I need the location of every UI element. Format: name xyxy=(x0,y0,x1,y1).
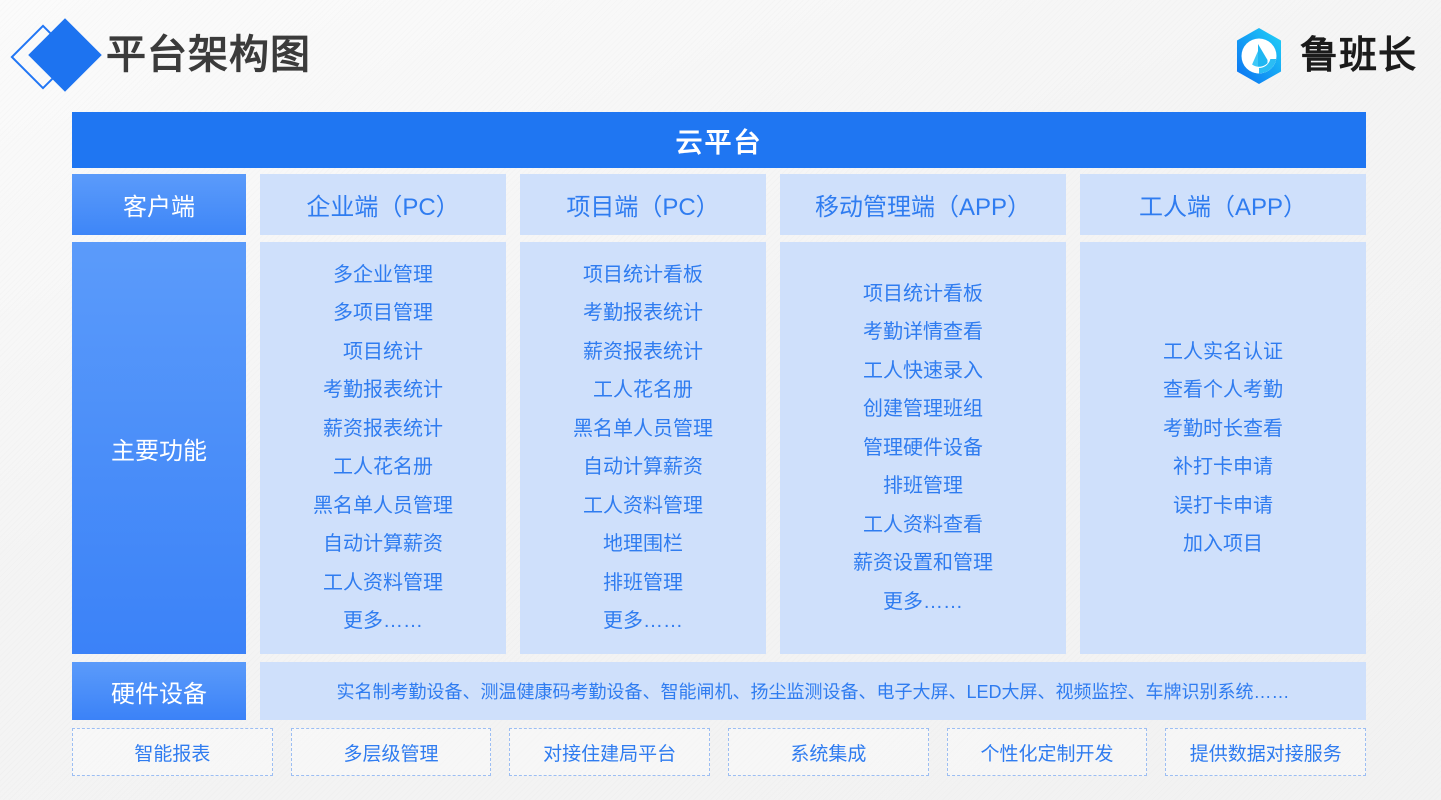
tag-government-platform-integration[interactable]: 对接住建局平台 xyxy=(509,728,710,776)
column-header-project-pc-text: 项目端（PC） xyxy=(566,187,719,222)
list-item[interactable]: 考勤详情查看 xyxy=(863,313,983,352)
feature-list-enterprise-pc: 多企业管理 多项目管理 项目统计 考勤报表统计 薪资报表统计 工人花名册 黑名单… xyxy=(260,242,506,654)
list-item[interactable]: 多企业管理 xyxy=(333,256,433,295)
column-header-project-pc[interactable]: 项目端（PC） xyxy=(520,174,766,235)
tag-system-integration-text: 系统集成 xyxy=(790,739,866,766)
list-item[interactable]: 项目统计看板 xyxy=(583,256,703,295)
tag-system-integration[interactable]: 系统集成 xyxy=(728,728,929,776)
diamond-logo-icon xyxy=(18,24,104,90)
tag-multi-level-management-text: 多层级管理 xyxy=(344,739,439,766)
list-item[interactable]: 薪资设置和管理 xyxy=(853,544,993,583)
platform-architecture-diagram: 云平台 客户端 企业端（PC） 项目端（PC） 移动管理端（APP） 工人端（A… xyxy=(72,112,1366,776)
list-item[interactable]: 工人花名册 xyxy=(333,448,433,487)
list-item[interactable]: 工人实名认证 xyxy=(1163,333,1283,372)
tag-custom-development-text: 个性化定制开发 xyxy=(981,739,1114,766)
list-item[interactable]: 项目统计 xyxy=(343,333,423,372)
capability-tag-row: 智能报表 多层级管理 对接住建局平台 系统集成 个性化定制开发 提供数据对接服务 xyxy=(72,728,1366,776)
hexagon-building-icon xyxy=(1229,26,1289,86)
list-item[interactable]: 查看个人考勤 xyxy=(1163,371,1283,410)
row-label-hardware: 硬件设备 xyxy=(72,662,246,720)
feature-list-project-pc: 项目统计看板 考勤报表统计 薪资报表统计 工人花名册 黑名单人员管理 自动计算薪… xyxy=(520,242,766,654)
list-item-more[interactable]: 更多…… xyxy=(883,583,963,622)
list-item[interactable]: 项目统计看板 xyxy=(863,275,983,314)
tag-data-integration-service[interactable]: 提供数据对接服务 xyxy=(1165,728,1366,776)
list-item[interactable]: 补打卡申请 xyxy=(1173,448,1273,487)
main-functions-row: 主要功能 多企业管理 多项目管理 项目统计 考勤报表统计 薪资报表统计 工人花名… xyxy=(72,242,1366,654)
page-header: 平台架构图 鲁班长 xyxy=(0,0,1441,110)
column-header-worker-app[interactable]: 工人端（APP） xyxy=(1080,174,1366,235)
hardware-device-list: 实名制考勤设备、测温健康码考勤设备、智能闸机、扬尘监测设备、电子大屏、LED大屏… xyxy=(260,662,1366,720)
feature-list-worker-app: 工人实名认证 查看个人考勤 考勤时长查看 补打卡申请 误打卡申请 加入项目 xyxy=(1080,242,1366,654)
row-label-main-functions-text: 主要功能 xyxy=(111,431,207,466)
row-label-main-functions: 主要功能 xyxy=(72,242,246,654)
row-label-hardware-text: 硬件设备 xyxy=(111,674,207,709)
list-item[interactable]: 加入项目 xyxy=(1183,525,1263,564)
list-item[interactable]: 黑名单人员管理 xyxy=(313,487,453,526)
list-item[interactable]: 地理围栏 xyxy=(603,525,683,564)
list-item[interactable]: 薪资报表统计 xyxy=(323,410,443,449)
client-header-row: 客户端 企业端（PC） 项目端（PC） 移动管理端（APP） 工人端（APP） xyxy=(72,174,1366,235)
list-item[interactable]: 工人资料查看 xyxy=(863,506,983,545)
list-item[interactable]: 薪资报表统计 xyxy=(583,333,703,372)
cloud-platform-bar: 云平台 xyxy=(72,112,1366,168)
column-header-worker-app-text: 工人端（APP） xyxy=(1139,187,1307,222)
cloud-platform-label: 云平台 xyxy=(676,121,763,160)
list-item[interactable]: 多项目管理 xyxy=(333,294,433,333)
brand-lockup: 鲁班长 xyxy=(1229,24,1417,88)
list-item[interactable]: 排班管理 xyxy=(883,467,963,506)
list-item[interactable]: 工人资料管理 xyxy=(583,487,703,526)
list-item[interactable]: 管理硬件设备 xyxy=(863,429,983,468)
list-item-more[interactable]: 更多…… xyxy=(603,602,683,641)
row-label-client-text: 客户端 xyxy=(123,187,195,222)
list-item[interactable]: 自动计算薪资 xyxy=(323,525,443,564)
list-item[interactable]: 黑名单人员管理 xyxy=(573,410,713,449)
tag-custom-development[interactable]: 个性化定制开发 xyxy=(947,728,1148,776)
tag-smart-reports-text: 智能报表 xyxy=(134,739,210,766)
feature-list-mobile-admin-app: 项目统计看板 考勤详情查看 工人快速录入 创建管理班组 管理硬件设备 排班管理 … xyxy=(780,242,1066,654)
list-item[interactable]: 考勤时长查看 xyxy=(1163,410,1283,449)
tag-data-integration-service-text: 提供数据对接服务 xyxy=(1190,739,1342,766)
column-header-mobile-admin-app[interactable]: 移动管理端（APP） xyxy=(780,174,1066,235)
row-label-client: 客户端 xyxy=(72,174,246,235)
list-item[interactable]: 考勤报表统计 xyxy=(323,371,443,410)
list-item[interactable]: 排班管理 xyxy=(603,564,683,603)
list-item[interactable]: 创建管理班组 xyxy=(863,390,983,429)
hardware-device-list-text: 实名制考勤设备、测温健康码考勤设备、智能闸机、扬尘监测设备、电子大屏、LED大屏… xyxy=(336,678,1289,704)
brand-name: 鲁班长 xyxy=(1300,33,1417,79)
page-title: 平台架构图 xyxy=(106,29,311,81)
hardware-row: 硬件设备 实名制考勤设备、测温健康码考勤设备、智能闸机、扬尘监测设备、电子大屏、… xyxy=(72,662,1366,720)
column-header-mobile-admin-app-text: 移动管理端（APP） xyxy=(815,187,1031,222)
list-item[interactable]: 误打卡申请 xyxy=(1173,487,1273,526)
list-item[interactable]: 自动计算薪资 xyxy=(583,448,703,487)
tag-government-platform-integration-text: 对接住建局平台 xyxy=(543,739,676,766)
list-item-more[interactable]: 更多…… xyxy=(343,602,423,641)
list-item[interactable]: 工人资料管理 xyxy=(323,564,443,603)
column-header-enterprise-pc[interactable]: 企业端（PC） xyxy=(260,174,506,235)
list-item[interactable]: 考勤报表统计 xyxy=(583,294,703,333)
column-header-enterprise-pc-text: 企业端（PC） xyxy=(306,187,459,222)
tag-smart-reports[interactable]: 智能报表 xyxy=(72,728,273,776)
tag-multi-level-management[interactable]: 多层级管理 xyxy=(291,728,492,776)
list-item[interactable]: 工人花名册 xyxy=(593,371,693,410)
list-item[interactable]: 工人快速录入 xyxy=(863,352,983,391)
